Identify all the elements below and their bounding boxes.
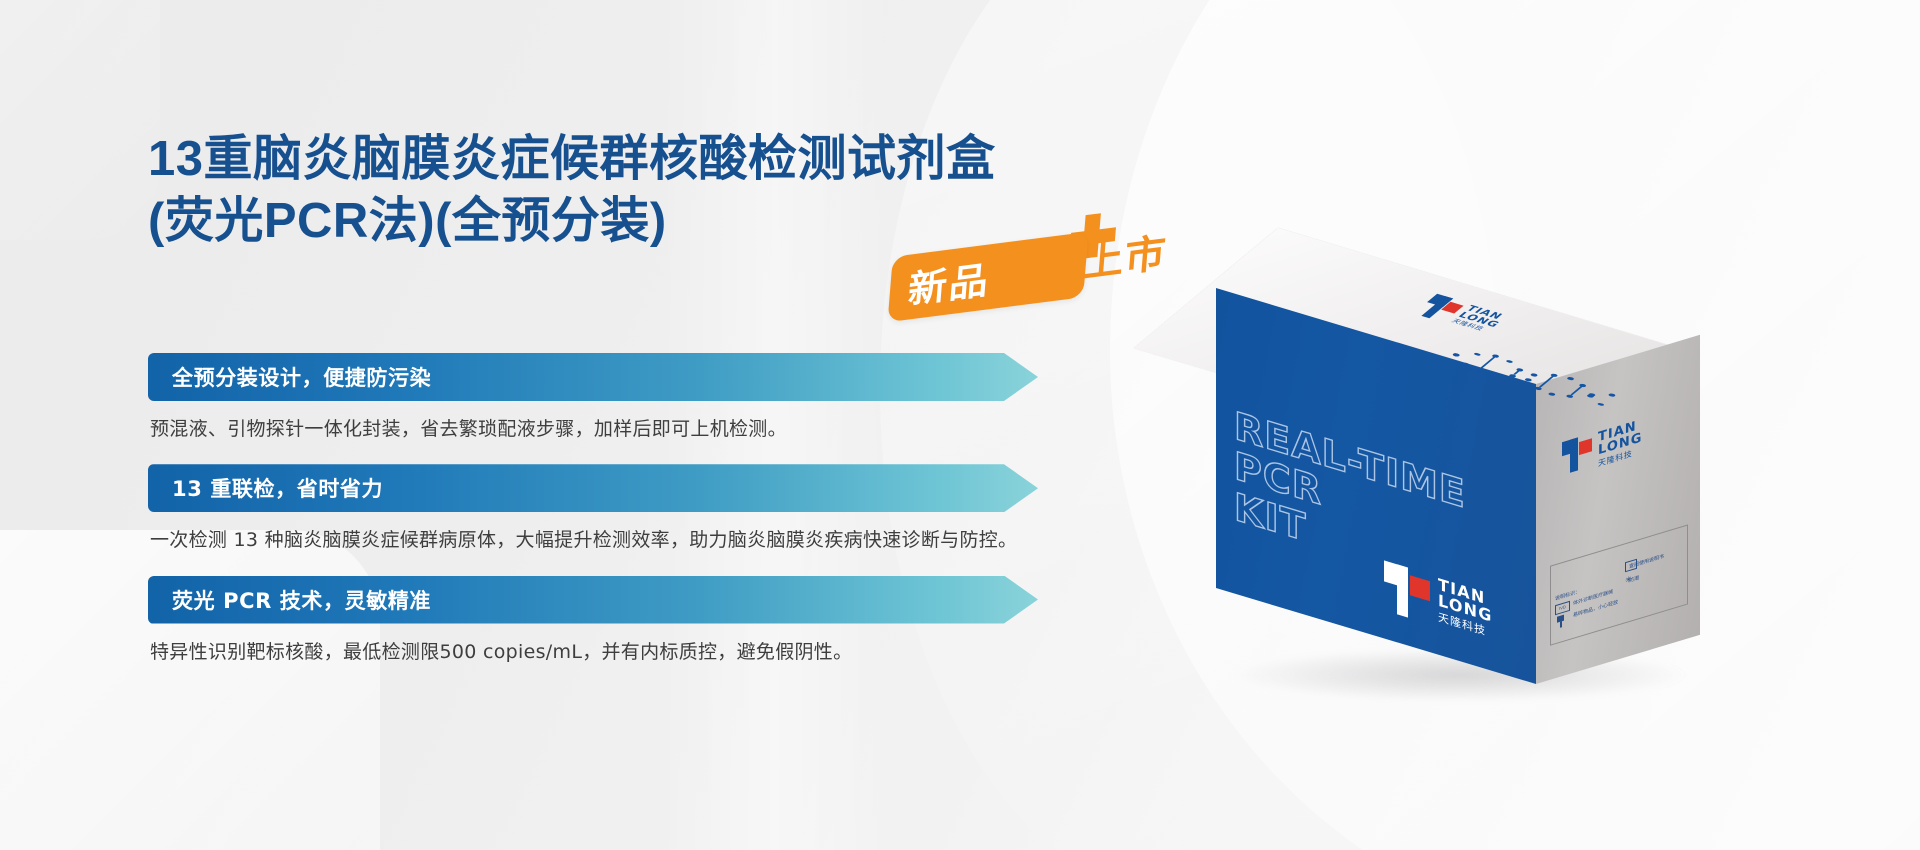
product-box-image: TIAN LONG 天隆科技 REAL-TIMEPCRKIT TIAN LONG…: [1190, 228, 1830, 708]
feature-item: 13 重联检，省时省力 一次检测 13 种脑炎脑膜炎症候群病原体，大幅提升检测效…: [148, 464, 1088, 557]
feature-list: 全预分装设计，便捷防污染 预混液、引物探针一体化封装，省去繁琐配液步骤，加样后即…: [148, 353, 1088, 687]
ivd-icon: IVD: [1555, 601, 1570, 616]
tianlong-mark-icon: [1562, 433, 1592, 475]
feature-item: 荧光 PCR 技术，灵敏精准 特异性识别靶标核酸，最低检测限500 copies…: [148, 576, 1088, 669]
feature-description: 特异性识别靶标核酸，最低检测限500 copies/mL，并有内标质控，避免假阴…: [150, 636, 1050, 669]
box-side-label: 说明标识： IVD ✳ 体外诊断医疗器械 易碎物品，小心轻放 查阅使用说明书 防…: [1550, 524, 1688, 645]
feature-item: 全预分装设计，便捷防污染 预混液、引物探针一体化封装，省去繁琐配液步骤，加样后即…: [148, 353, 1088, 446]
feature-label: 荧光 PCR 技术，灵敏精准: [148, 585, 431, 615]
box-front-title: REAL-TIMEPCRKIT: [1234, 405, 1466, 595]
product-promo-banner: 13重脑炎脑膜炎症候群核酸检测试剂盒 (荧光PCR法)(全预分装) 新品 上市 …: [0, 0, 1920, 850]
background-rounded-top-left: [0, 0, 160, 240]
feature-description: 预混液、引物探针一体化封装，省去繁琐配液步骤，加样后即可上机检测。: [150, 413, 1050, 446]
box-side-artwork: TIAN LONG 天隆科技 说明标识： IVD ✳ 体外诊断医疗器械 易碎物品…: [1536, 335, 1700, 684]
title-line-1: 13重脑炎脑膜炎症候群核酸检测试剂盒: [148, 132, 996, 186]
side-label-line-c: 查阅使用说明书: [1629, 553, 1664, 571]
fragile-icon: [1556, 614, 1565, 631]
brand-logo-top: TIAN LONG 天隆科技: [1407, 294, 1547, 352]
brand-logo-side: TIAN LONG 天隆科技: [1562, 406, 1682, 488]
feature-bar: 全预分装设计，便捷防污染: [148, 353, 1038, 401]
feature-label: 全预分装设计，便捷防污染: [148, 362, 431, 392]
feature-label: 13 重联检，省时省力: [148, 473, 383, 503]
feature-bar: 13 重联检，省时省力: [148, 464, 1038, 512]
new-product-badge: 新品 上市: [888, 212, 1188, 324]
side-label-line-d: 防潮: [1629, 574, 1639, 584]
feature-description: 一次检测 13 种脑炎脑膜炎症候群病原体，大幅提升检测效率，助力脑炎脑膜炎疾病快…: [150, 524, 1050, 557]
feature-bar: 荧光 PCR 技术，灵敏精准: [148, 576, 1038, 624]
